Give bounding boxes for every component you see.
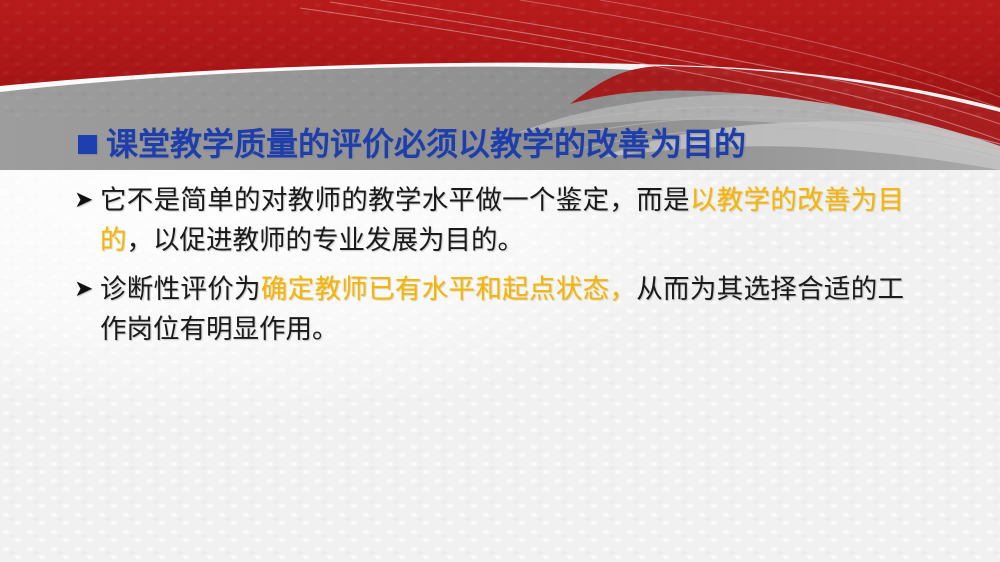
presentation-slide: 课堂教学质量的评价必须以教学的改善为目的 ➤ 它不是简单的对教师的教学水平做一个… [0, 0, 1000, 562]
list-item-text: 它不是简单的对教师的教学水平做一个鉴定，而是以教学的改善为目的，以促进教师的专业… [100, 180, 904, 260]
text-segment: ，以促进教师的专业发展为目的。 [127, 225, 525, 255]
square-bullet-icon [78, 135, 97, 154]
highlighted-text-segment: 确定教师已有水平和起点状态， [261, 274, 636, 304]
text-segment: 它不是简单的对教师的教学水平做一个鉴定，而是 [100, 185, 690, 215]
list-item-text: 诊断性评价为确定教师已有水平和起点状态，从而为其选择合适的工作岗位有明显作用。 [100, 269, 904, 349]
text-segment: 诊断性评价为 [100, 274, 261, 304]
list-item: ➤ 它不是简单的对教师的教学水平做一个鉴定，而是以教学的改善为目的，以促进教师的… [74, 180, 904, 260]
slide-title-text: 课堂教学质量的评价必须以教学的改善为目的 [106, 127, 746, 162]
slide-title: 课堂教学质量的评价必须以教学的改善为目的 [78, 127, 746, 162]
list-item: ➤ 诊断性评价为确定教师已有水平和起点状态，从而为其选择合适的工作岗位有明显作用… [74, 269, 904, 349]
arrow-bullet-icon: ➤ [74, 180, 100, 220]
slide-body: ➤ 它不是简单的对教师的教学水平做一个鉴定，而是以教学的改善为目的，以促进教师的… [74, 180, 904, 358]
arrow-bullet-icon: ➤ [74, 269, 100, 309]
